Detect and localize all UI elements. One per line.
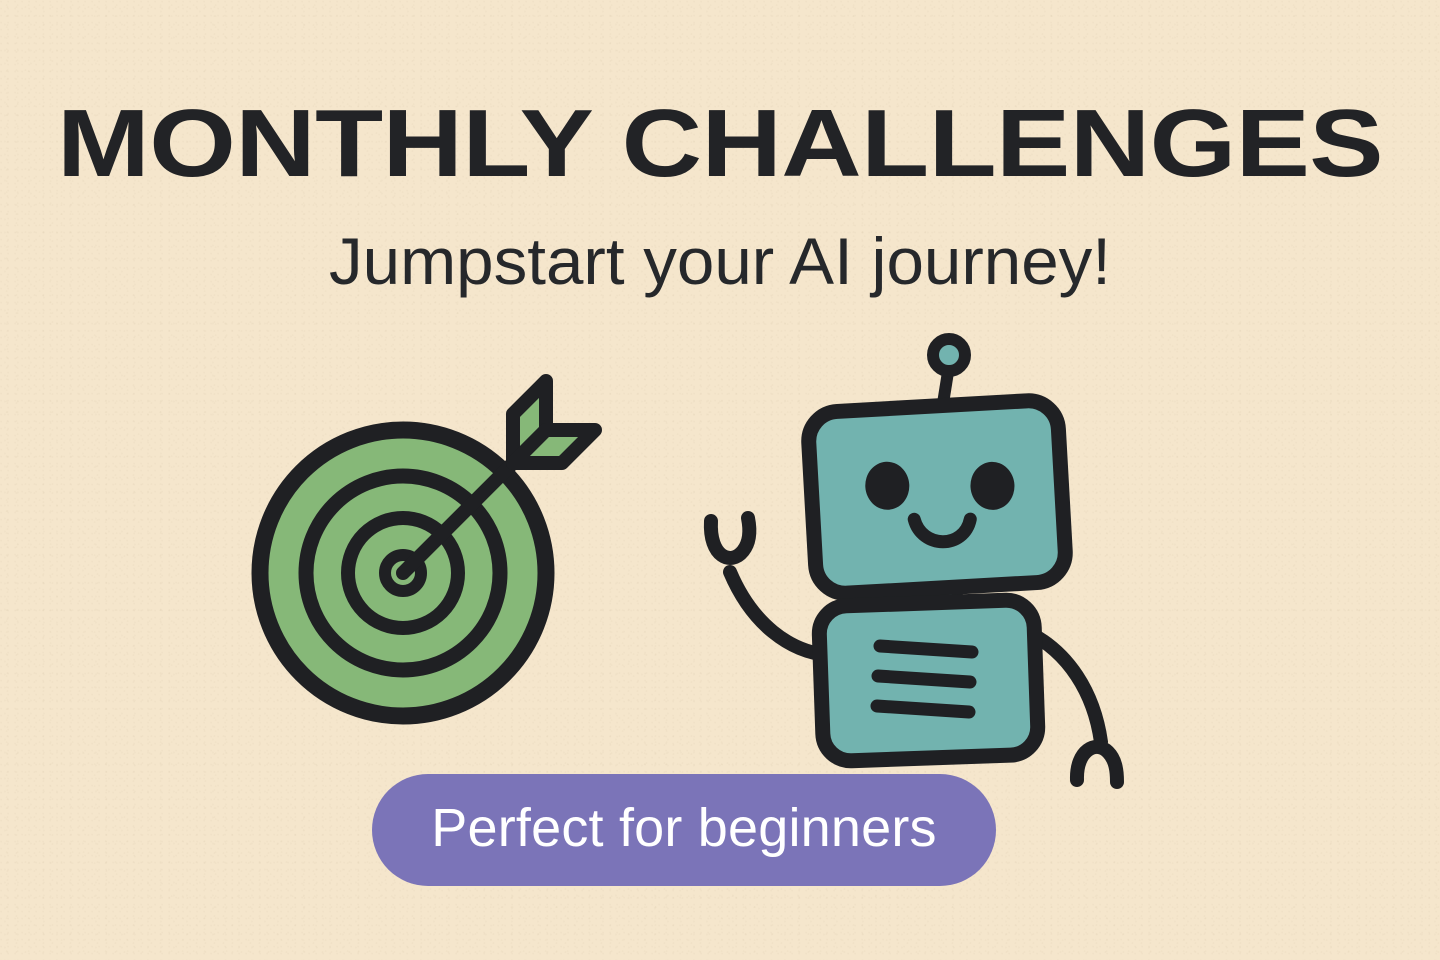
robot-left-hand: [711, 518, 750, 558]
beginners-badge-label: Perfect for beginners: [431, 801, 936, 855]
robot-head: [807, 399, 1067, 595]
poster-canvas: MONTHLY CHALLENGES Jumpstart your AI jou…: [0, 0, 1440, 960]
robot-body-line-3: [877, 706, 969, 712]
robot-body-line-2: [878, 676, 970, 682]
robot-illustration: [711, 339, 1117, 782]
robot-body-line-1: [880, 646, 972, 652]
robot-right-hand: [1077, 747, 1117, 782]
beginners-badge[interactable]: Perfect for beginners: [372, 774, 996, 886]
target-illustration: [260, 381, 595, 716]
robot-antenna-ball: [933, 339, 965, 371]
